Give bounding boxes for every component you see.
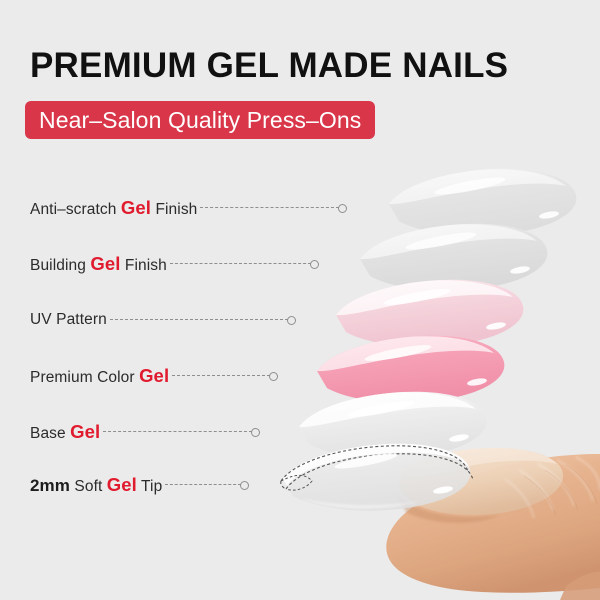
layer-premium-color-gel [317,336,504,403]
callout-label: UV Pattern [0,311,107,329]
callout-leader-line [170,263,311,265]
callout-endpoint-marker [269,372,278,381]
callout-label: Premium Color Gel [0,365,169,387]
callout-label-part: UV Pattern [30,311,107,328]
callout-building-gel-finish: Building Gel Finish [0,253,319,275]
callout-premium-color-gel: Premium Color Gel [0,365,278,387]
layer-base-gel [299,392,486,459]
callout-label: Building Gel Finish [0,253,167,275]
page-title: PREMIUM GEL MADE NAILS [30,48,508,83]
callout-label-part: Tip [137,478,162,495]
callout-leader-line [172,375,270,377]
callout-leader-line [165,484,241,486]
callout-label-part: Finish [151,201,197,218]
callout-uv-pattern: UV Pattern [0,309,296,331]
layer-soft-gel-tip [281,444,473,511]
layer-anti-scratch-gel-finish [389,169,576,236]
callout-label-part: Anti–scratch [30,201,121,218]
callout-label: Base Gel [0,421,100,443]
layer-building-gel-finish [360,224,547,291]
callout-leader-line [103,431,252,433]
callout-anti-scratch-gel-finish: Anti–scratch Gel Finish [0,197,347,219]
callout-leader-line [110,319,288,321]
callout-endpoint-marker [287,316,296,325]
callout-endpoint-marker [251,428,260,437]
callout-label-part: Soft [70,478,107,495]
subtitle-badge-label: Near–Salon Quality Press–Ons [39,107,361,134]
callout-label-part: Building [30,257,90,274]
callout-label-part: 2mm [30,476,70,495]
callout-label-part: Gel [107,474,137,495]
callout-2mm-soft-gel-tip: 2mm Soft Gel Tip [0,474,249,496]
callout-base-gel: Base Gel [0,421,260,443]
nail-layers-infographic: PREMIUM GEL MADE NAILS Near–Salon Qualit… [0,0,600,600]
callout-label: 2mm Soft Gel Tip [0,474,162,496]
callout-label-part: Gel [90,253,120,274]
callout-leader-line [200,207,339,209]
callout-label-part: Gel [139,365,169,386]
callout-endpoint-marker [338,204,347,213]
callout-label-part: Base [30,425,70,442]
callout-endpoint-marker [240,481,249,490]
callout-label-part: Premium Color [30,369,139,386]
subtitle-badge: Near–Salon Quality Press–Ons [25,101,375,139]
callout-label-part: Gel [70,421,100,442]
layer-uv-pattern [336,280,523,347]
fingertip [386,448,600,600]
callout-endpoint-marker [310,260,319,269]
callout-label: Anti–scratch Gel Finish [0,197,197,219]
callout-label-part: Gel [121,197,151,218]
nail-stack-illustration [0,0,600,600]
callout-label-part: Finish [120,257,166,274]
